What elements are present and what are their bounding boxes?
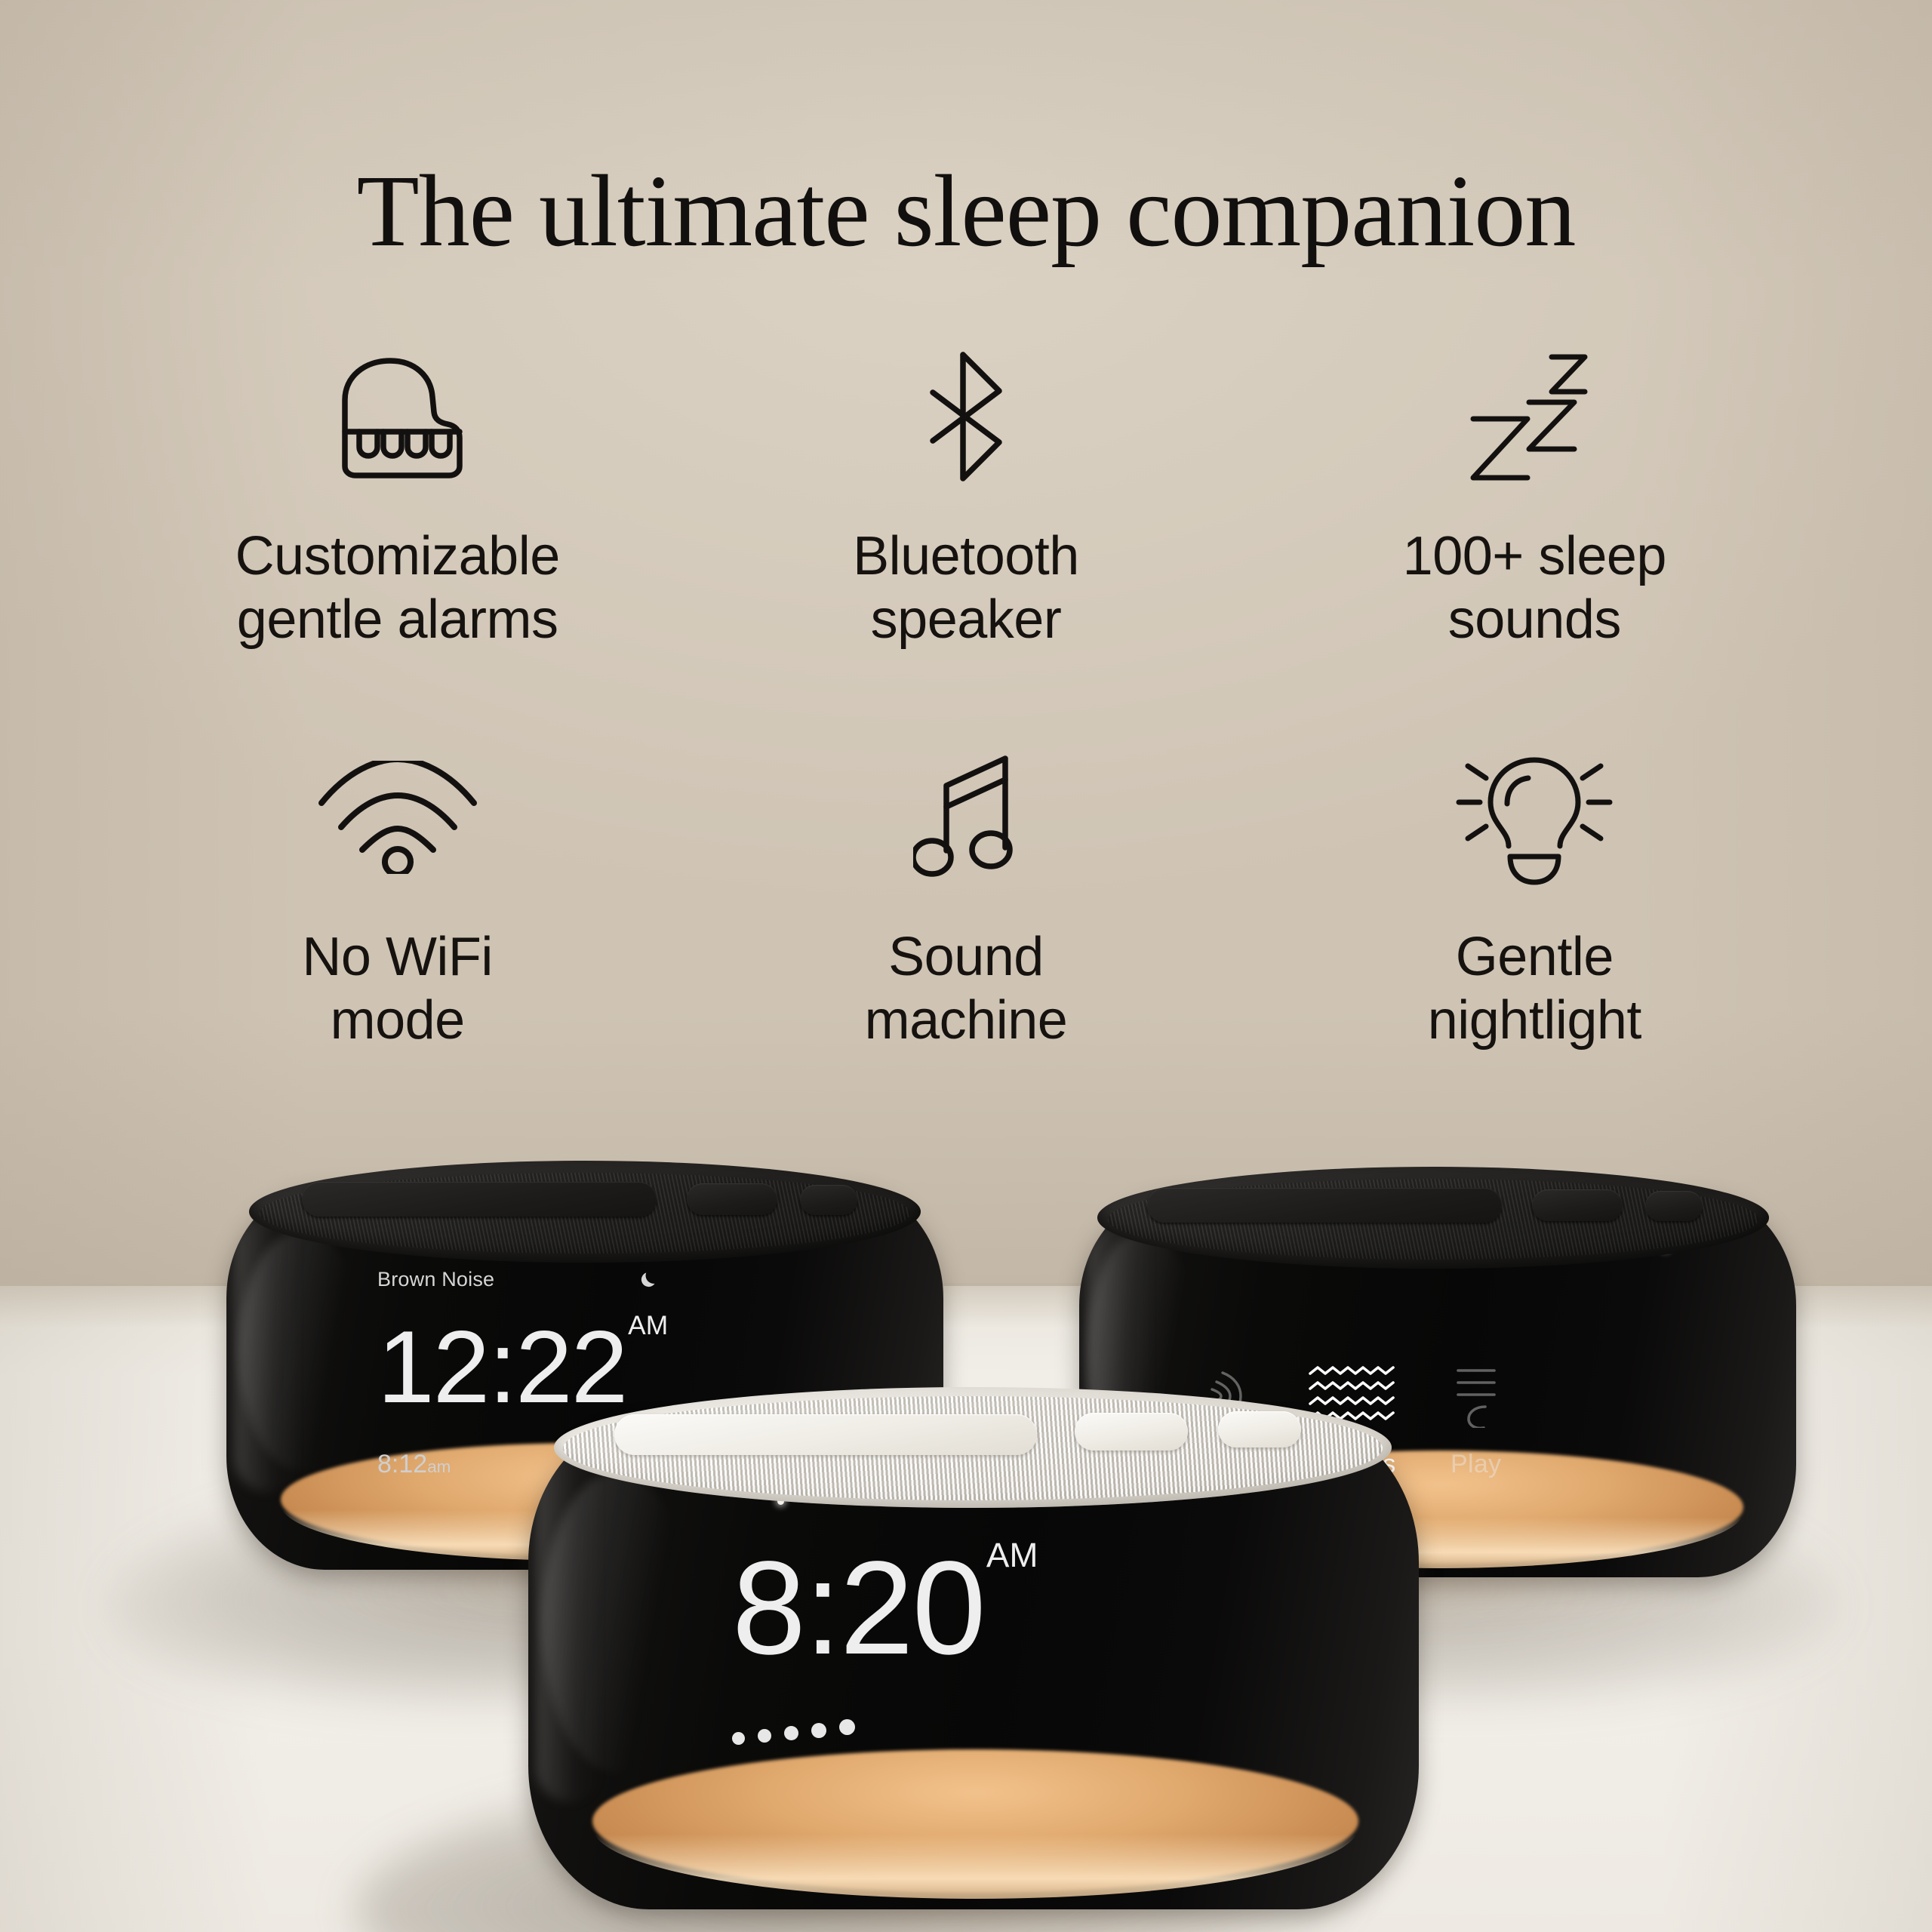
play-list-icon <box>1454 1362 1499 1430</box>
feature-customizable-alarms: Customizable gentle alarms <box>113 341 681 651</box>
feature-bluetooth-speaker: Bluetooth speaker <box>681 341 1250 651</box>
left-clock-top-grille[interactable] <box>249 1161 921 1263</box>
power-button[interactable] <box>1218 1411 1301 1447</box>
feature-label: Sound machine <box>865 926 1068 1052</box>
feature-sound-machine: Sound machine <box>681 742 1250 1052</box>
right-clock-top-grille[interactable] <box>1097 1167 1769 1269</box>
feature-label: 100+ sleep sounds <box>1403 525 1666 651</box>
volume-button[interactable] <box>687 1183 777 1215</box>
zzz-sleep-icon <box>1463 341 1606 492</box>
front-clock-screen[interactable]: 8:20 AM <box>732 1532 1245 1774</box>
feature-label: Gentle nightlight <box>1428 926 1641 1052</box>
marketing-image: The ultimate sleep companion Customizabl… <box>0 0 1932 1932</box>
current-time: 12:22 <box>377 1308 626 1426</box>
feature-grid: Customizable gentle alarms Bluetooth spe… <box>113 341 1819 1052</box>
page-title: The ultimate sleep companion <box>0 160 1932 263</box>
feature-label: Bluetooth speaker <box>853 525 1079 651</box>
current-time: 8:20 <box>732 1532 985 1684</box>
feature-label: No WiFi mode <box>302 926 492 1052</box>
piano-icon <box>325 341 470 492</box>
volume-button[interactable] <box>1532 1189 1623 1221</box>
front-clock[interactable]: 8:20 AM <box>528 1419 1419 1909</box>
front-clock-indicator-dots <box>732 1719 1245 1745</box>
front-clock-time-display: 8:20 AM <box>732 1532 1245 1684</box>
feature-label: Customizable gentle alarms <box>235 525 560 651</box>
time-meridiem: AM <box>628 1311 668 1341</box>
time-meridiem: AM <box>986 1536 1038 1575</box>
feature-no-wifi-mode: No WiFi mode <box>113 742 681 1052</box>
snooze-button[interactable] <box>302 1182 657 1217</box>
current-sound-name: Brown Noise <box>377 1268 494 1291</box>
snooze-button[interactable] <box>614 1414 1037 1455</box>
bluetooth-icon <box>921 341 1011 492</box>
alarm-time-value: 8:12 <box>377 1450 427 1478</box>
power-button[interactable] <box>1645 1191 1703 1221</box>
lightbulb-icon <box>1453 742 1616 893</box>
moon-icon <box>638 1269 660 1291</box>
music-note-icon <box>913 742 1019 893</box>
feature-gentle-nightlight: Gentle nightlight <box>1251 742 1819 1052</box>
left-screen-status-row: Brown Noise <box>377 1268 660 1291</box>
volume-button[interactable] <box>1075 1413 1188 1451</box>
front-clock-nightlight-rim <box>592 1755 1358 1899</box>
menu-item-play[interactable]: Play <box>1451 1362 1501 1479</box>
power-button[interactable] <box>800 1185 857 1215</box>
snooze-button[interactable] <box>1147 1188 1502 1223</box>
menu-label: Play <box>1451 1450 1501 1479</box>
left-clock-body-sheen <box>238 1230 367 1472</box>
front-clock-top-grille[interactable] <box>554 1387 1392 1508</box>
wifi-icon <box>315 742 480 893</box>
front-clock-body-sheen <box>542 1472 693 1774</box>
alarm-time-meridiem: am <box>427 1457 451 1476</box>
feature-sleep-sounds: 100+ sleep sounds <box>1251 341 1819 651</box>
